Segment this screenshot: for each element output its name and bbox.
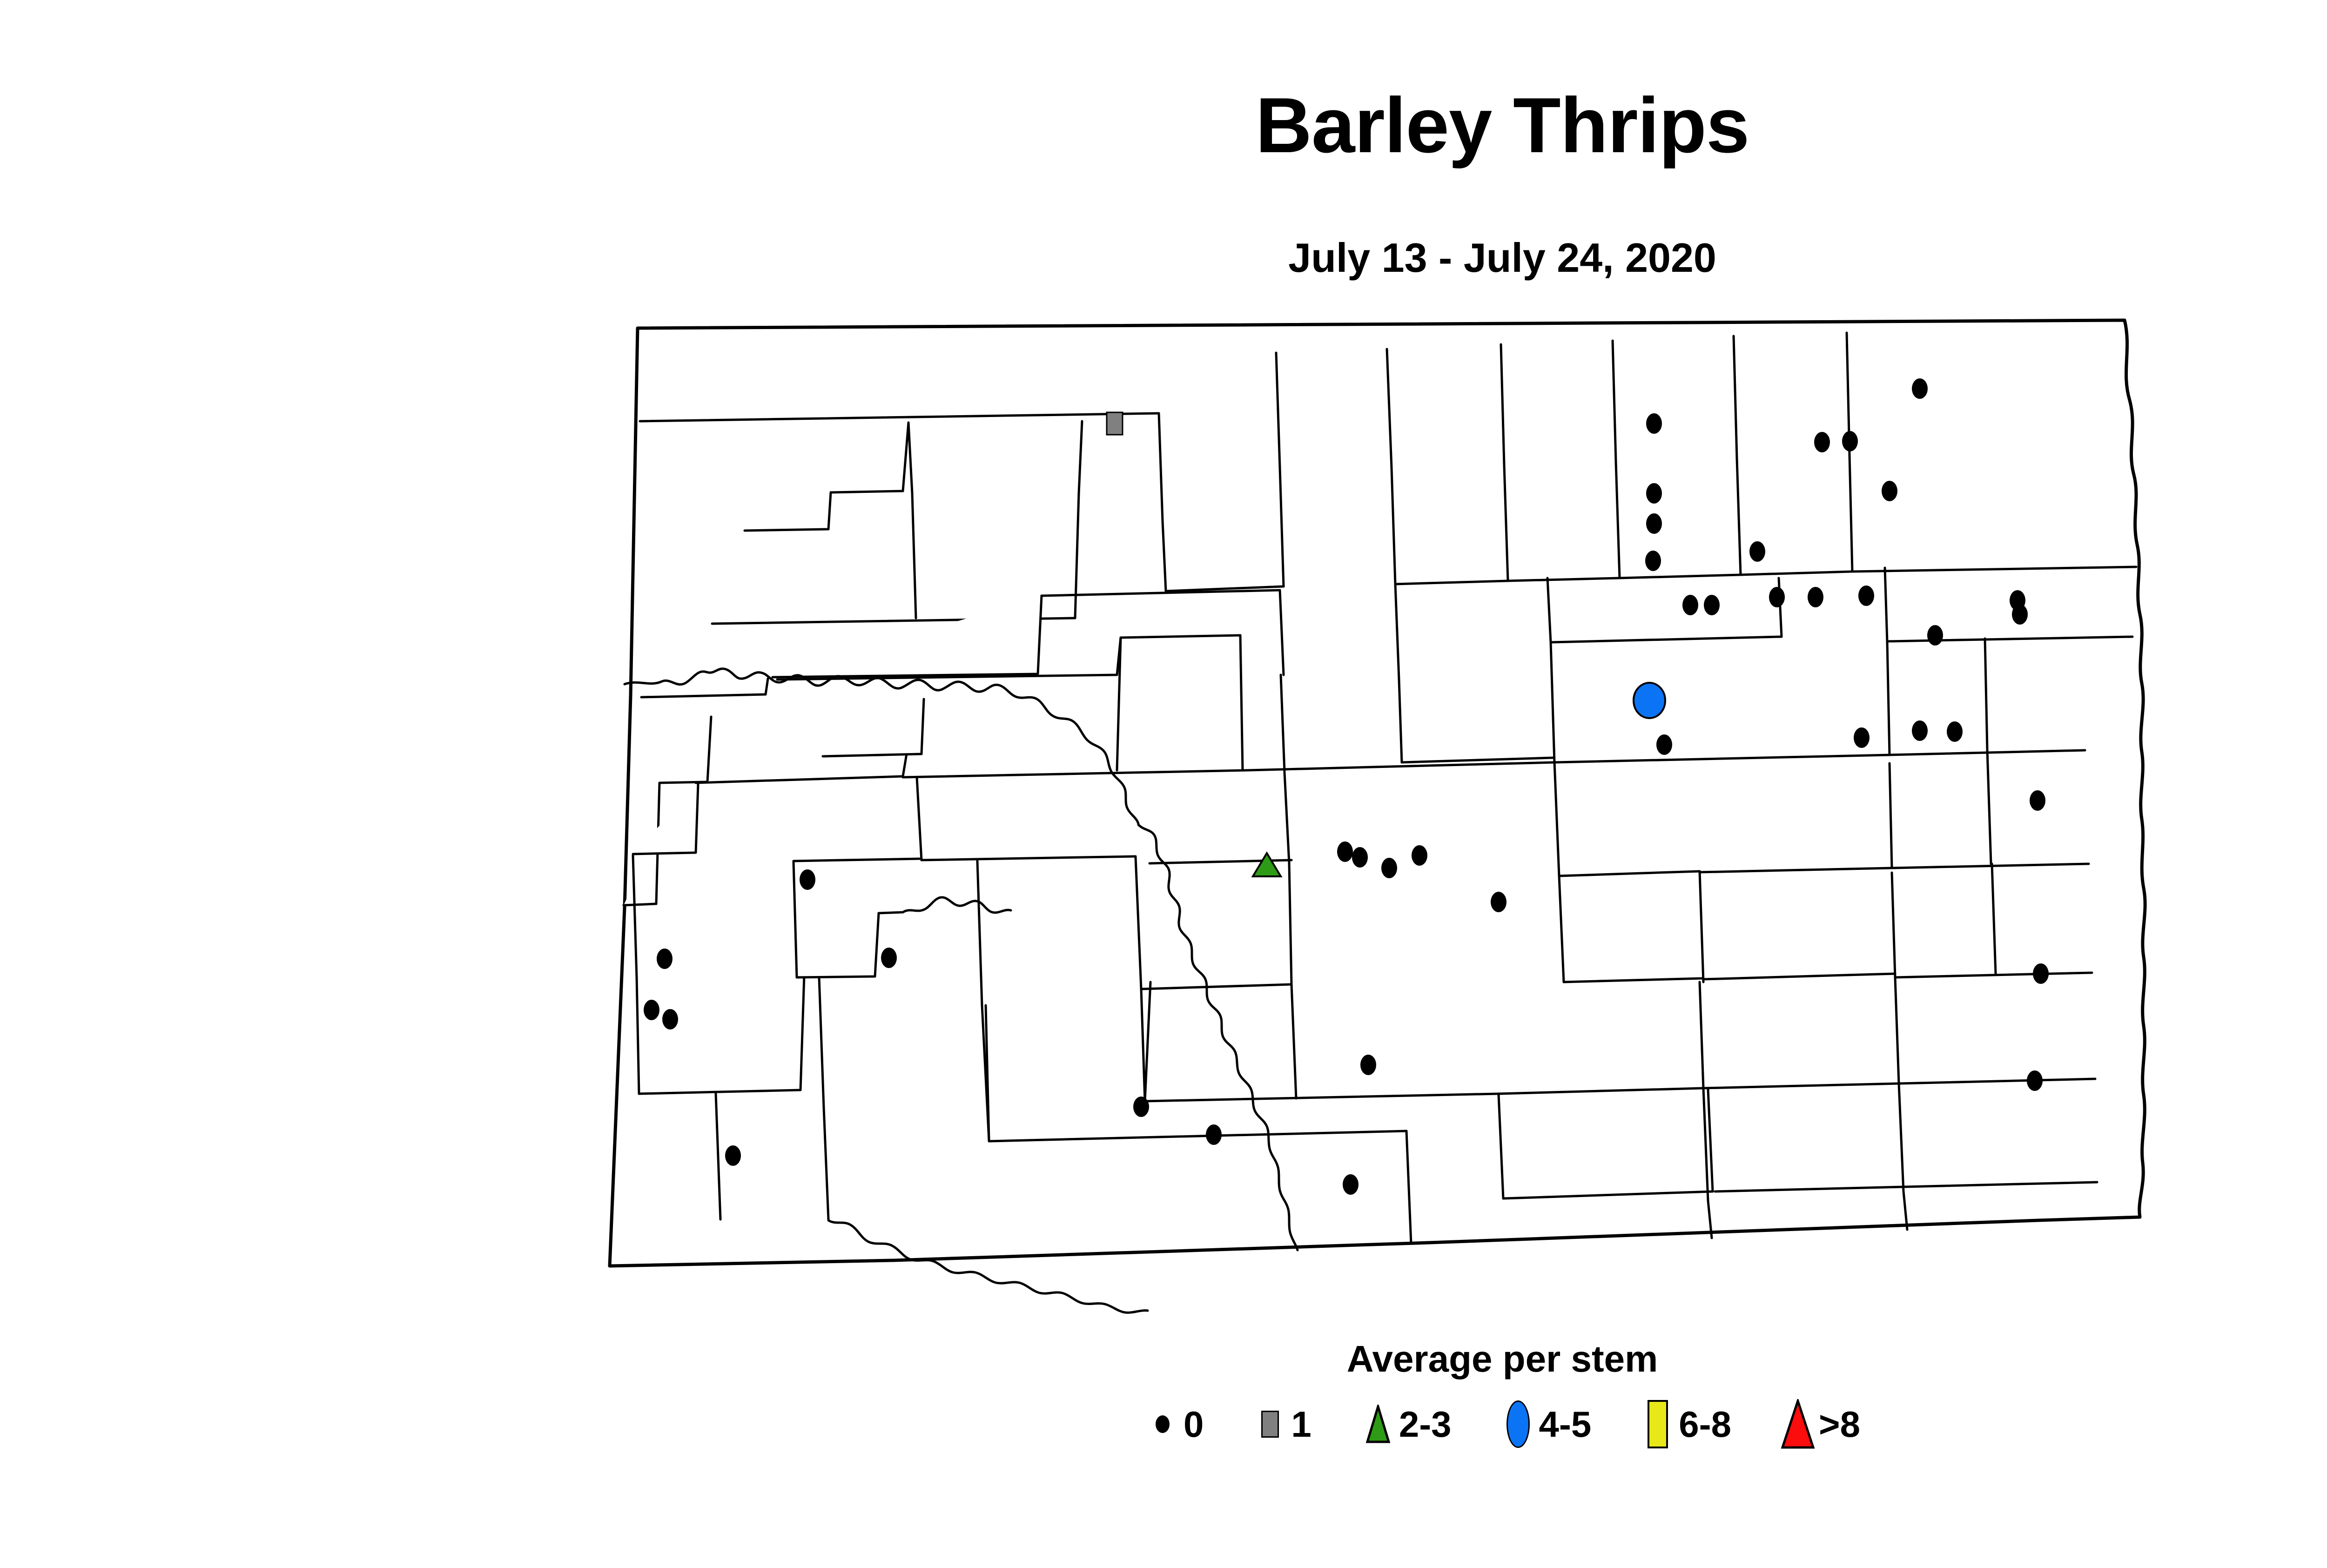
map-data-point	[1646, 413, 1662, 434]
state-outline	[610, 320, 2145, 1266]
legend-item-label: 4-5	[1539, 1406, 1592, 1442]
legend-triangle-icon	[1780, 1399, 1816, 1450]
map-data-point	[1854, 727, 1870, 748]
legend-item-label: >8	[1819, 1406, 1860, 1442]
screenshot-canvas: Barley Thrips July 13 - July 24, 2020	[0, 0, 2327, 1568]
map-data-point	[1814, 432, 1830, 452]
map-data-point	[1912, 378, 1928, 399]
county-boundaries	[610, 320, 2145, 1312]
legend-square-icon	[1252, 1399, 1288, 1450]
map-data-point	[1882, 481, 1897, 501]
map-data-point	[881, 948, 897, 968]
legend-item-label: 1	[1291, 1406, 1311, 1442]
legend-item[interactable]: 1	[1252, 1396, 1359, 1452]
legend-item-label: 2-3	[1399, 1406, 1452, 1442]
map-data-point	[2033, 963, 2049, 984]
legend-item[interactable]: >8	[1780, 1396, 1860, 1452]
map-data-point	[1133, 1097, 1149, 1117]
map-data-point	[1912, 720, 1928, 741]
legend-items: 012-34-56-8>8	[0, 1396, 2327, 1452]
map-data-point	[1927, 625, 1943, 646]
map-data-point	[2030, 790, 2045, 811]
legend-item-label: 6-8	[1679, 1406, 1731, 1442]
map-data-point	[644, 1000, 659, 1020]
map-data-point	[1337, 841, 1353, 862]
legend-title: Average per stem	[0, 1340, 2327, 1378]
legend-square-icon	[1640, 1399, 1676, 1450]
map-data-point	[2027, 1070, 2043, 1091]
map-svg	[596, 307, 2253, 1322]
map-data-point	[1206, 1124, 1222, 1145]
page-subtitle: July 13 - July 24, 2020	[0, 237, 2327, 278]
map-data-point	[1646, 483, 1662, 504]
legend-triangle-icon	[1360, 1399, 1396, 1450]
map-data-point	[1491, 892, 1506, 912]
map-data-point	[1656, 734, 1672, 755]
map-data-point	[1634, 683, 1665, 718]
map-data-point	[1704, 595, 1720, 615]
map-data-point	[1769, 587, 1785, 607]
map-data-point	[662, 1009, 678, 1030]
north-dakota-county-map	[596, 307, 2253, 1322]
map-data-point	[1412, 845, 1427, 866]
map-data-point	[1947, 721, 1963, 742]
map-data-point	[1343, 1174, 1359, 1195]
map-data-point	[1646, 513, 1662, 534]
map-data-point	[1381, 858, 1397, 878]
page-title: Barley Thrips	[0, 86, 2327, 164]
map-data-point	[800, 869, 815, 890]
map-data-point	[1808, 587, 1823, 607]
map-data-point	[1858, 585, 1874, 606]
legend-item[interactable]: 6-8	[1640, 1396, 1780, 1452]
map-data-point	[1107, 412, 1123, 435]
map-data-point	[657, 949, 673, 969]
legend-circle-icon	[1144, 1399, 1181, 1450]
map-data-point	[1352, 847, 1368, 868]
legend-item[interactable]: 4-5	[1500, 1396, 1640, 1452]
map-data-point	[1749, 541, 1765, 562]
map-data-point	[1360, 1055, 1376, 1075]
legend-item[interactable]: 0	[1144, 1396, 1252, 1452]
legend-item[interactable]: 2-3	[1360, 1396, 1500, 1452]
legend-circle-icon	[1500, 1399, 1536, 1450]
legend-item-label: 0	[1184, 1406, 1204, 1442]
map-data-point	[1682, 595, 1698, 615]
map-data-point	[725, 1145, 741, 1166]
map-data-point	[1645, 551, 1661, 571]
map-data-point	[1842, 431, 1858, 451]
legend: Average per stem 012-34-56-8>8	[0, 1340, 2327, 1378]
map-data-point	[2012, 604, 2028, 625]
